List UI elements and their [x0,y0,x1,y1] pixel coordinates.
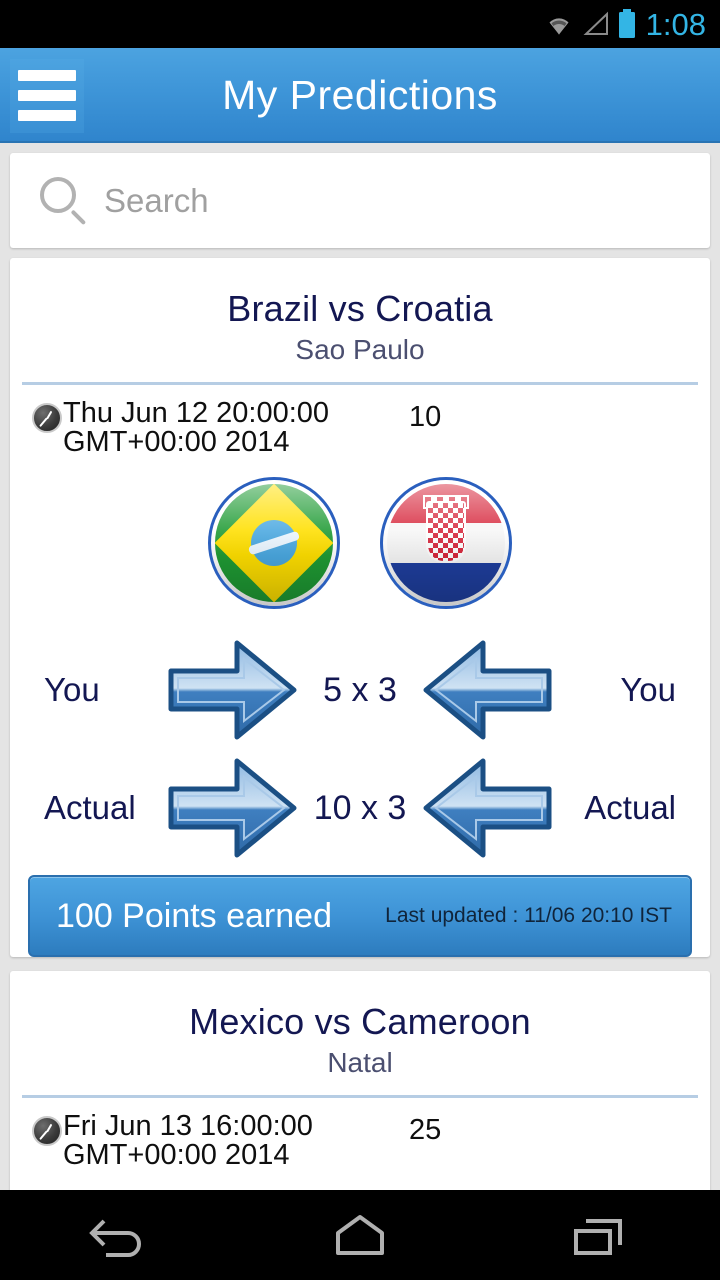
match-datetime: Fri Jun 13 16:00:00 GMT+00:00 2014 [63,1112,363,1170]
hamburger-bar-3 [18,110,76,121]
hamburger-bar-1 [18,70,76,81]
prediction-row-actual: Actual 10 x 3 [22,749,698,867]
match-meta-row: Fri Jun 13 16:00:00 GMT+00:00 2014 25 [22,1108,698,1178]
search-box[interactable] [10,153,710,248]
prediction-row-you: You 5 x 3 [22,631,698,749]
recents-icon [564,1209,636,1261]
divider [22,382,698,385]
match-card[interactable]: Brazil vs Croatia Sao Paulo Thu Jun 12 2… [10,258,710,957]
actual-score: 10 x 3 [300,789,420,828]
match-venue: Natal [22,1047,698,1095]
croatia-flag-icon [380,477,512,609]
home-button[interactable] [295,1200,425,1270]
search-input[interactable] [90,182,710,220]
status-bar: 1:08 [0,0,720,48]
back-button[interactable] [55,1200,185,1270]
status-bar-icons [542,8,638,40]
page-title: My Predictions [0,72,720,119]
hamburger-bar-2 [18,90,76,101]
actual-right-label: Actual [555,789,676,827]
wifi-icon [542,10,576,38]
clock-icon [32,1116,62,1146]
phone-screen: 1:08 My Predictions Brazil vs Croatia Sa… [0,0,720,1280]
prediction-score: 5 x 3 [300,671,420,710]
signal-icon [582,10,610,38]
status-bar-clock: 1:08 [646,9,706,40]
search-icon [38,175,90,227]
last-updated-text: Last updated : 11/06 20:10 IST [385,904,672,928]
android-nav-bar [0,1190,720,1280]
points-banner[interactable]: 100 Points earned Last updated : 11/06 2… [28,875,692,957]
arrow-right-icon[interactable] [165,753,300,863]
brazil-flag-icon [208,477,340,609]
recents-button[interactable] [535,1200,665,1270]
search-card [10,153,710,248]
back-icon [84,1209,156,1261]
flags-row [22,465,698,631]
arrow-left-icon[interactable] [420,635,555,745]
arrow-left-icon[interactable] [420,753,555,863]
match-title: Brazil vs Croatia [22,276,698,334]
match-title: Mexico vs Cameroon [22,989,698,1047]
hamburger-menu-icon[interactable] [10,59,84,133]
match-card[interactable]: Mexico vs Cameroon Natal Fri Jun 13 16:0… [10,971,710,1190]
scroll-content[interactable]: Brazil vs Croatia Sao Paulo Thu Jun 12 2… [0,143,720,1190]
battery-icon [616,8,638,40]
match-meta-row: Thu Jun 12 20:00:00 GMT+00:00 2014 10 [22,395,698,465]
prediction-left-label: You [44,671,165,709]
match-points-value: 10 [409,399,441,434]
home-icon [324,1209,396,1261]
divider [22,1095,698,1098]
action-bar: My Predictions [0,48,720,143]
actual-left-label: Actual [44,789,165,827]
points-earned-text: 100 Points earned [56,897,332,936]
prediction-right-label: You [555,671,676,709]
match-datetime: Thu Jun 12 20:00:00 GMT+00:00 2014 [63,399,363,457]
clock-icon [32,403,62,433]
match-venue: Sao Paulo [22,334,698,382]
match-points-value: 25 [409,1112,441,1147]
arrow-right-icon[interactable] [165,635,300,745]
